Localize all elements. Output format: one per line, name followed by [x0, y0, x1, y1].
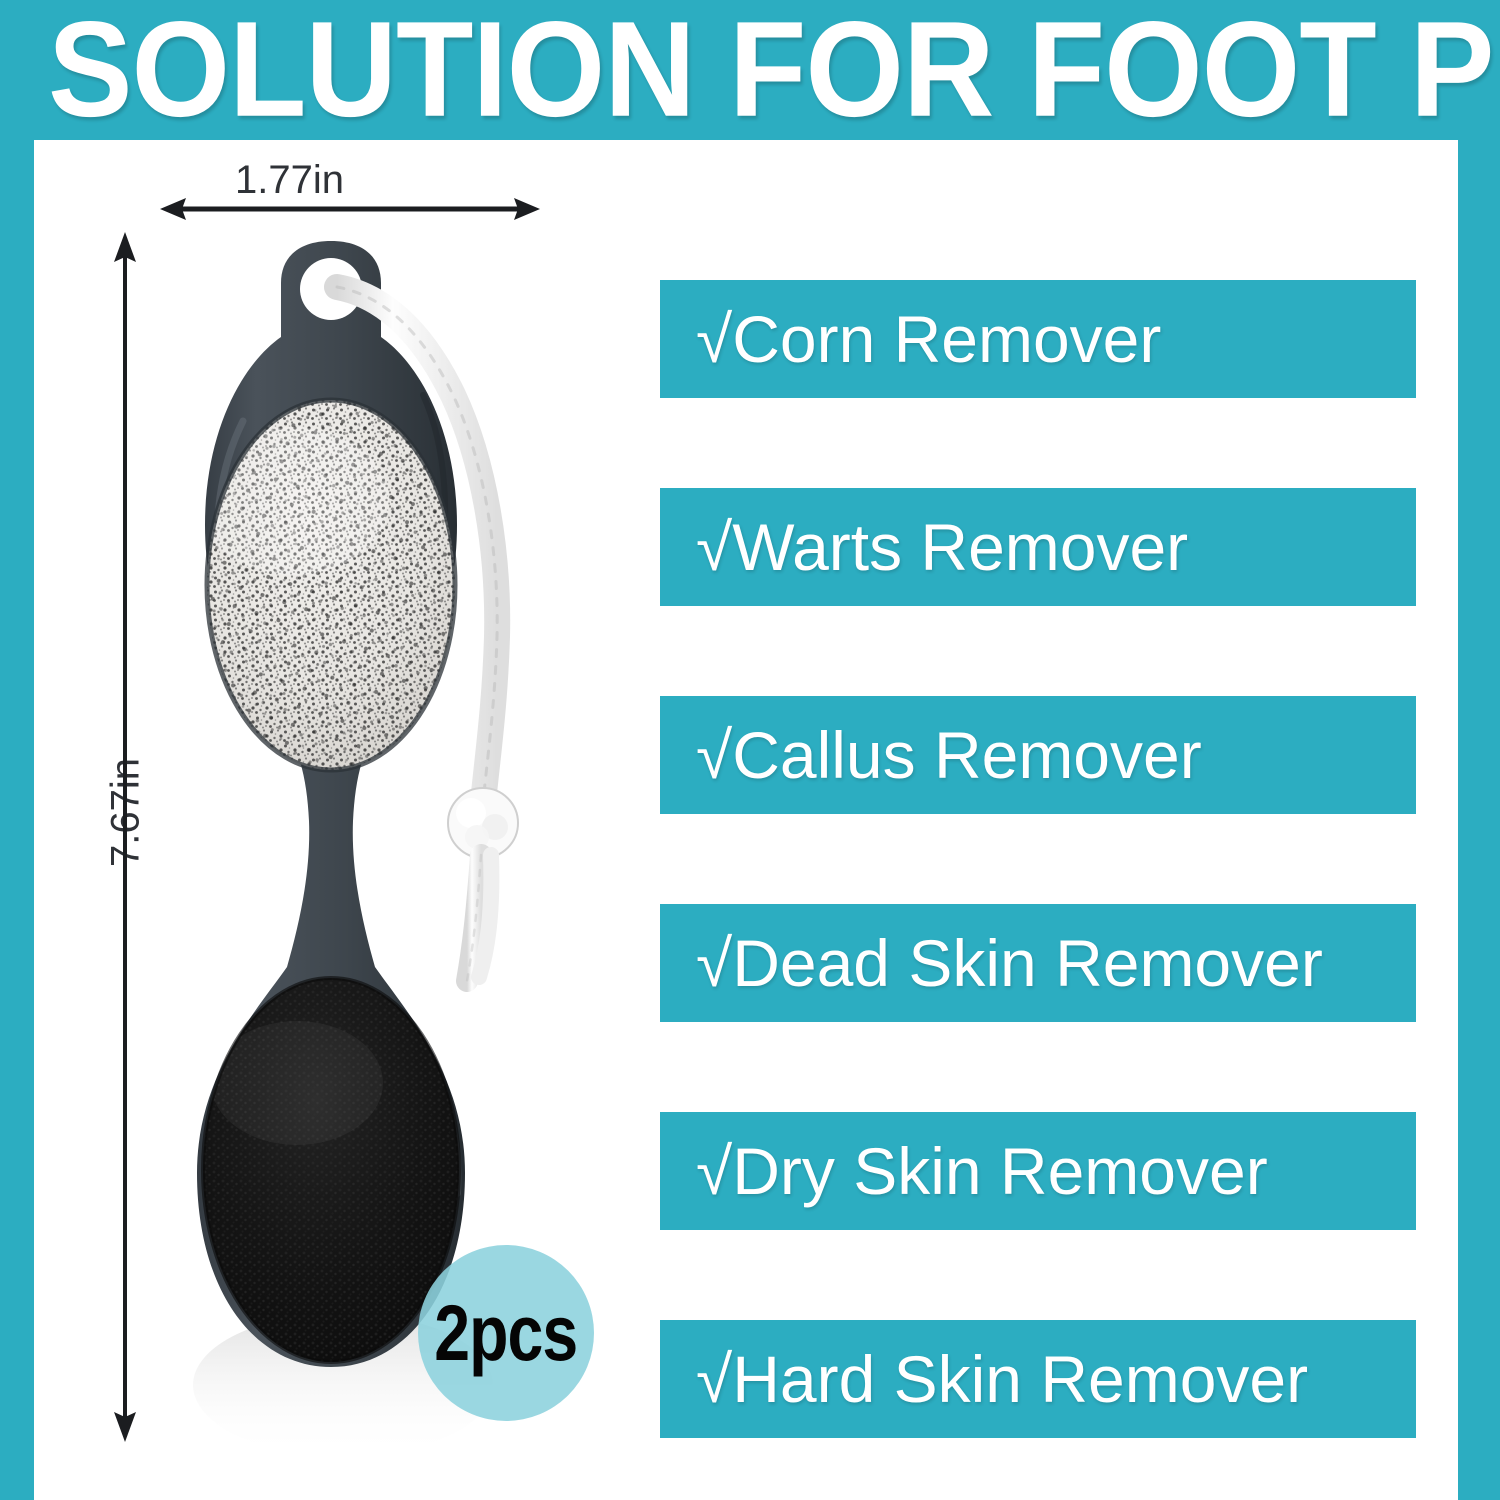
feature-label: √Hard Skin Remover	[696, 1344, 1308, 1414]
quantity-badge-label: 2pcs	[434, 1294, 577, 1372]
product-infographic: SOLUTION FOR FOOT PROBLEM 1.77in 7.67in	[0, 0, 1500, 1500]
header-banner: SOLUTION FOR FOOT PROBLEM	[0, 0, 1500, 140]
feature-list: √Corn Remover √Warts Remover √Callus Rem…	[660, 280, 1416, 1438]
feature-bar-hard-skin-remover: √Hard Skin Remover	[660, 1320, 1416, 1438]
quantity-badge: 2pcs	[418, 1245, 594, 1421]
feature-bar-warts-remover: √Warts Remover	[660, 488, 1416, 606]
feature-bar-callus-remover: √Callus Remover	[660, 696, 1416, 814]
feature-label: √Corn Remover	[696, 304, 1161, 374]
feature-bar-corn-remover: √Corn Remover	[660, 280, 1416, 398]
feature-bar-dry-skin-remover: √Dry Skin Remover	[660, 1112, 1416, 1230]
feature-label: √Warts Remover	[696, 512, 1188, 582]
feature-label: √Dry Skin Remover	[696, 1136, 1268, 1206]
feature-label: √Callus Remover	[696, 720, 1202, 790]
page-title: SOLUTION FOR FOOT PROBLEM	[48, 0, 1454, 140]
feature-label: √Dead Skin Remover	[696, 928, 1323, 998]
feature-bar-dead-skin-remover: √Dead Skin Remover	[660, 904, 1416, 1022]
height-dimension-arrow	[100, 232, 150, 1447]
